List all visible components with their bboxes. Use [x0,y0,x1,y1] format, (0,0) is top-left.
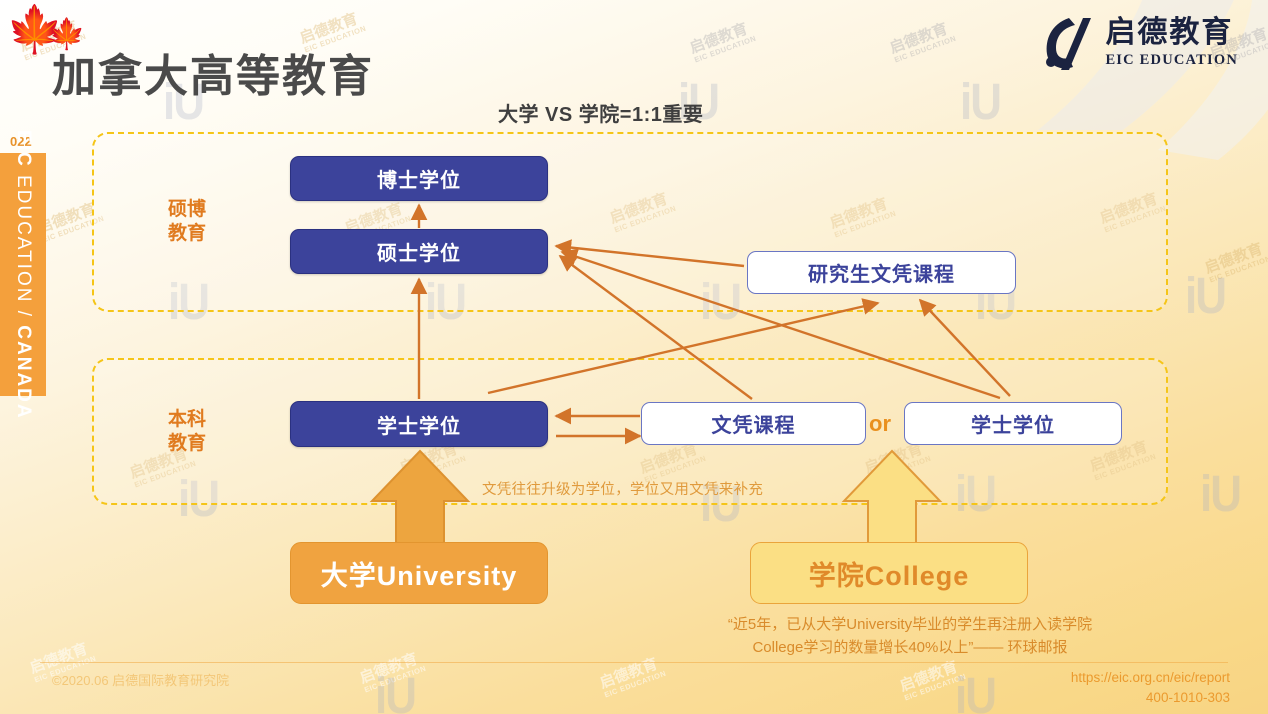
watermark: 启德教育EIC EDUCATION [898,658,967,702]
watermark: 启德教育EIC EDUCATION [688,20,757,64]
undergraduate-stage-label: 本科 教育 [155,408,219,456]
subtitle: 大学 VS 学院=1:1重要 [498,98,703,127]
node-university[interactable]: 大学University [290,542,548,604]
news-quote-line-1: “近5年，已从大学University毕业的学生再注册入读学院 [660,613,1160,636]
node-bachelor-degree[interactable]: 学士学位 [290,401,548,447]
eic-monogram-icon [1039,14,1095,72]
node-master-degree[interactable]: 硕士学位 [290,229,548,274]
side-tab-label: EIC EDUCATION / CANADA [12,130,34,420]
side-tab-canada: EIC EDUCATION / CANADA [0,153,46,396]
news-quote-line-2: College学习的数量增长40%以上”—— 环球邮报 [660,636,1160,659]
watermark: 启德教育EIC EDUCATION [1203,240,1268,284]
node-phd-degree[interactable]: 博士学位 [290,156,548,201]
footer-contact: https://eic.org.cn/eic/report 400-1010-3… [1071,668,1230,709]
college-block-arrow [840,449,944,549]
copyright-text: ©2020.06 启德国际教育研究院 [52,670,229,689]
node-bachelor-degree-alt[interactable]: 学士学位 [904,402,1122,445]
iu-watermark-glyph: iU [1200,466,1240,524]
node-diploma-program[interactable]: 文凭课程 [641,402,866,445]
iu-watermark-glyph: iU [955,668,995,714]
university-block-arrow [368,449,472,549]
footer-divider [40,662,1228,663]
news-quote: “近5年，已从大学University毕业的学生再注册入读学院 College学… [660,613,1160,660]
footer-url[interactable]: https://eic.org.cn/eic/report [1071,668,1230,688]
iu-watermark-glyph: iU [375,668,415,714]
eic-logo: 启德教育 EIC EDUCATION [1039,14,1238,72]
logo-text-cn: 启德教育 [1105,18,1238,48]
iu-watermark-glyph: iU [1185,268,1225,326]
upgrade-note: 文凭往往升级为学位，学位又用文凭来补充 [482,478,763,499]
node-college[interactable]: 学院College [750,542,1028,604]
node-pg-diploma[interactable]: 研究生文凭课程 [747,251,1016,294]
page-title: 加拿大高等教育 [52,40,374,104]
graduate-stage-label: 硕博 教育 [155,198,219,246]
logo-text-en: EIC EDUCATION [1105,52,1238,69]
slide-canvas: 启德教育EIC EDUCATION 启德教育EIC EDUCATION 启德教育… [0,0,1268,714]
or-separator-label: or [869,411,891,437]
watermark: 启德教育EIC EDUCATION [358,650,427,694]
footer-phone: 400-1010-303 [1071,688,1230,708]
